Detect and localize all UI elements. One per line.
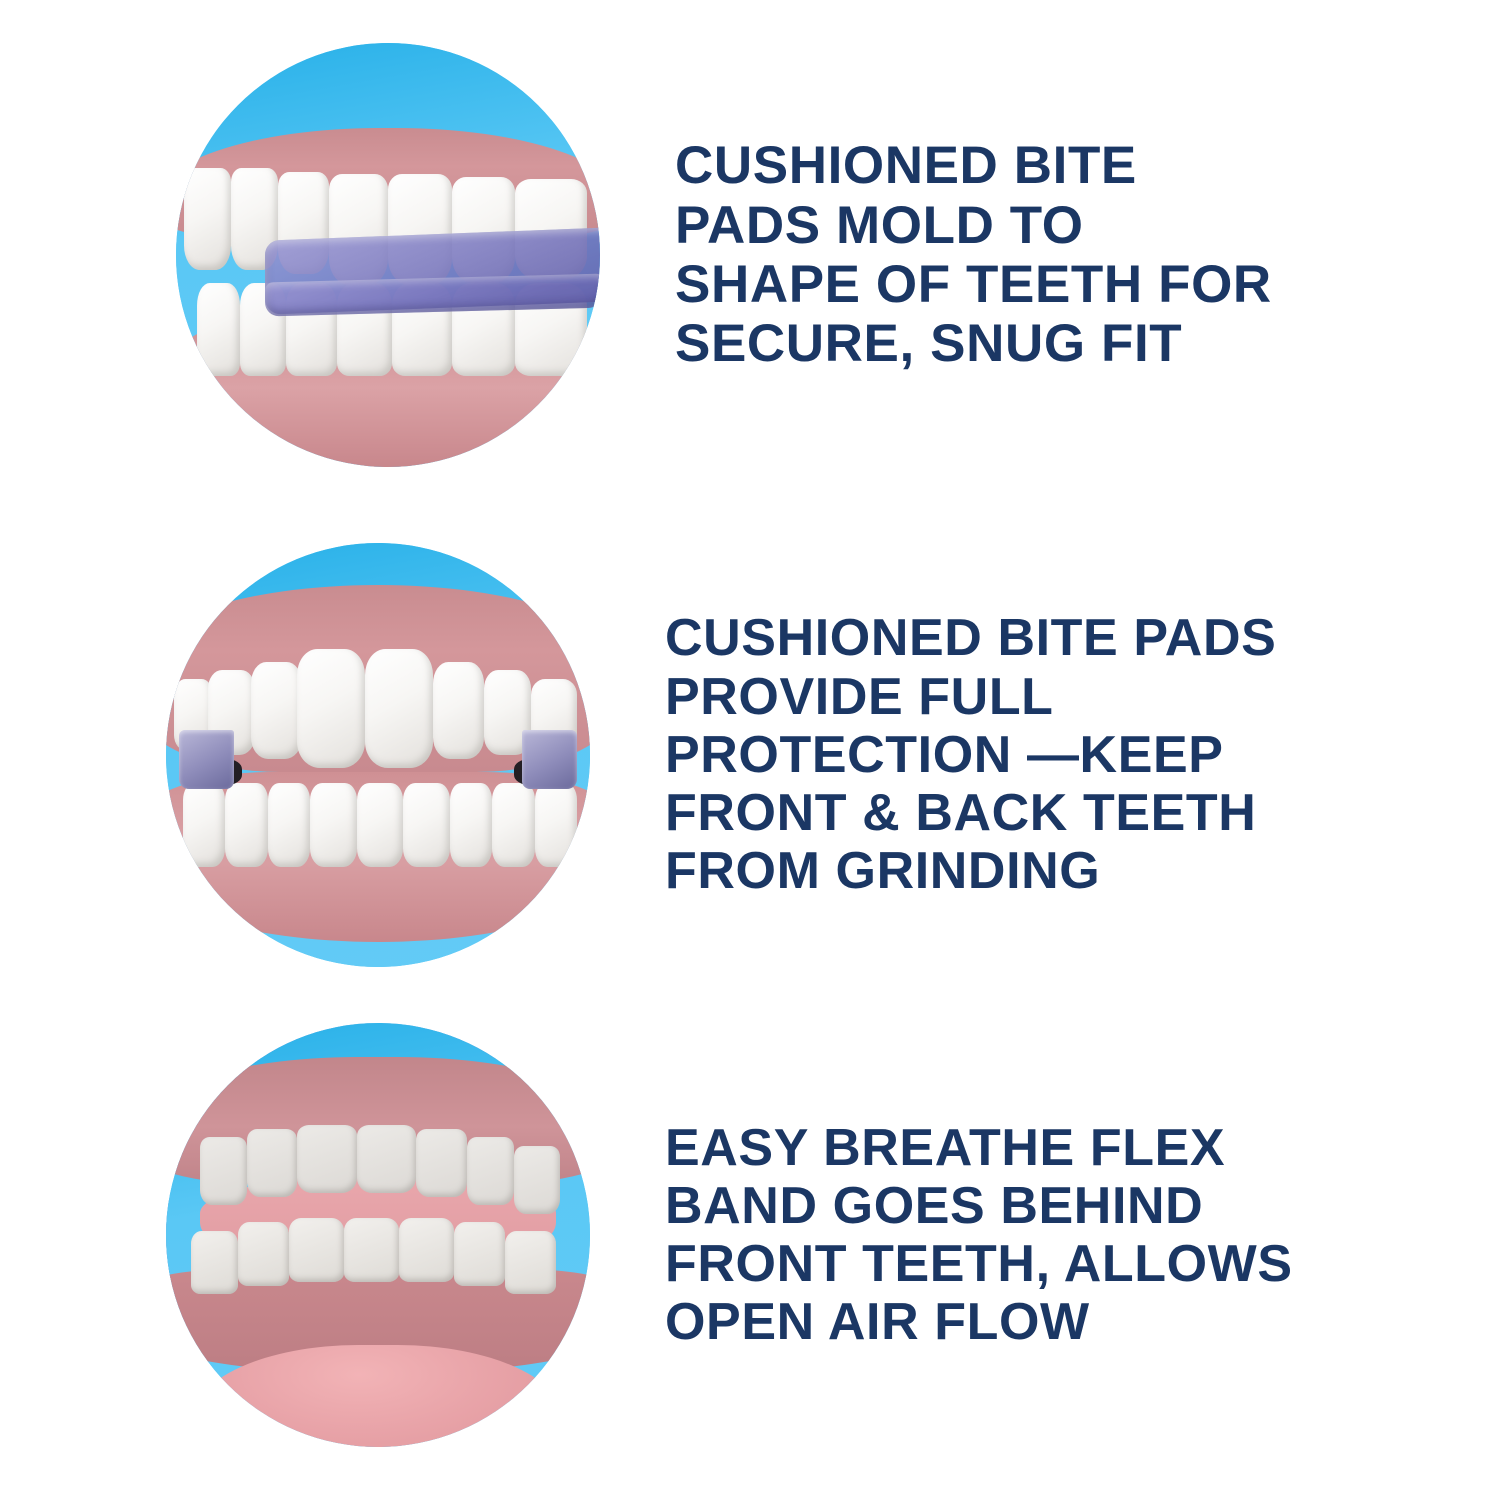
tooth [184,168,231,270]
tooth [197,283,239,376]
tooth [238,1222,289,1286]
illustration-front-teeth-view [166,543,590,967]
feature-text-3: EASY BREATHE FLEX BAND GOES BEHIND FRONT… [665,1119,1430,1352]
tooth [505,1231,556,1295]
tooth [225,783,267,868]
feature-text-1: CUSHIONED BITE PADS MOLD TO SHAPE OF TEE… [675,136,1430,373]
tooth [365,649,433,768]
tooth [467,1137,514,1205]
tooth [450,783,492,868]
tooth [183,783,225,868]
feature-text-2: CUSHIONED BITE PADS PROVIDE FULL PROTECT… [665,609,1430,900]
tooth [357,783,404,868]
tooth [310,783,357,868]
tooth [268,783,310,868]
tooth [297,1125,356,1193]
tooth [251,662,302,760]
illustration-interior-flex-band-view [166,1023,590,1447]
tooth [200,1137,247,1205]
tooth [297,649,365,768]
bite-pad-left [179,730,234,789]
bite-pad-right [522,730,577,789]
tooth [344,1218,399,1282]
tooth [454,1222,505,1286]
tooth [357,1125,416,1193]
illustration-side-bite-view [176,43,600,467]
tooth [492,783,534,868]
tooth [247,1129,298,1197]
tooth [433,662,484,760]
tooth [535,783,577,868]
tooth [416,1129,467,1197]
tooth [191,1231,238,1295]
feature-row-1: CUSHIONED BITE PADS MOLD TO SHAPE OF TEE… [0,20,1430,490]
infographic-page: CUSHIONED BITE PADS MOLD TO SHAPE OF TEE… [0,0,1500,1500]
feature-row-3: EASY BREATHE FLEX BAND GOES BEHIND FRONT… [0,1000,1430,1470]
feature-row-2: CUSHIONED BITE PADS PROVIDE FULL PROTECT… [0,520,1430,990]
tooth [403,783,450,868]
tooth [514,1146,561,1214]
tooth [289,1218,344,1282]
tooth [399,1218,454,1282]
